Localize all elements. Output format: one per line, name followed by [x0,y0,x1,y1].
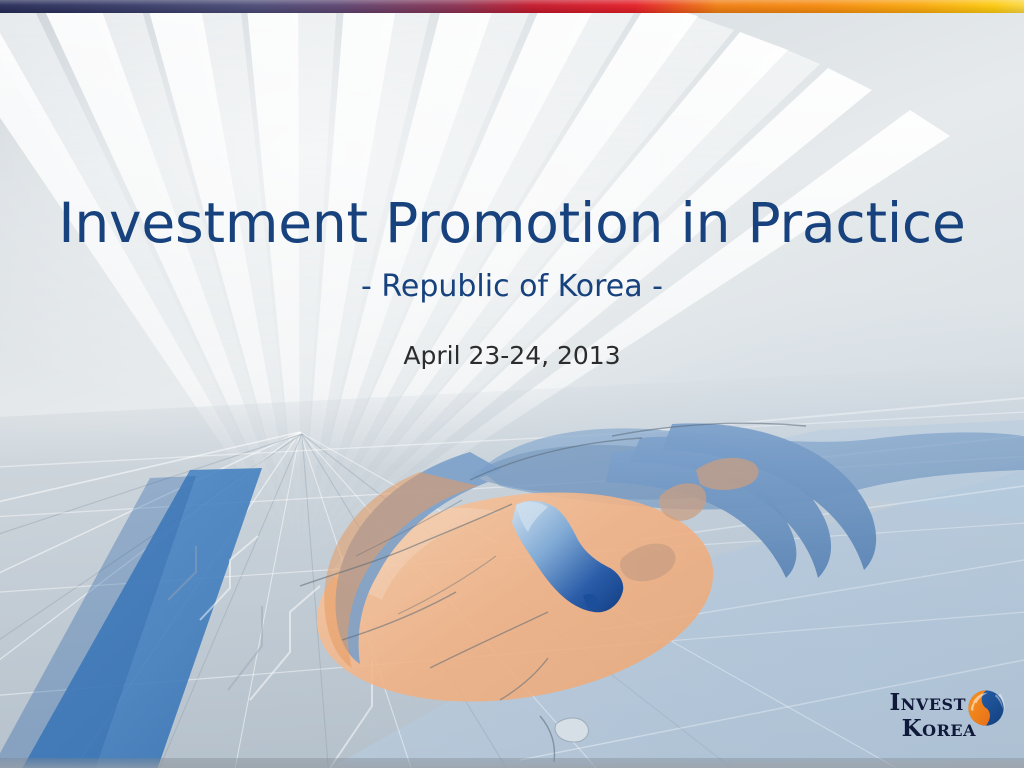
east-asia-map-emblem [0,0,1024,768]
presentation-date: April 23-24, 2013 [0,339,1024,373]
island-shape [555,718,588,742]
page-subtitle: - Republic of Korea - [0,268,1024,306]
taeguk-swirl-icon [966,688,1006,728]
accent-bar-sheen [0,0,1024,13]
logo-line-invest: Invest [890,691,966,714]
title-slide: Investment Promotion in Practice - Repub… [0,0,1024,768]
logo-line-korea: Korea [902,717,976,740]
page-title: Investment Promotion in Practice [0,191,1024,255]
gradient-accent-bar [0,0,1024,13]
logo-wordmark: Invest Korea [890,691,966,740]
invest-korea-logo: Invest Korea [890,688,1006,742]
bottom-edge-strip [0,758,1024,768]
